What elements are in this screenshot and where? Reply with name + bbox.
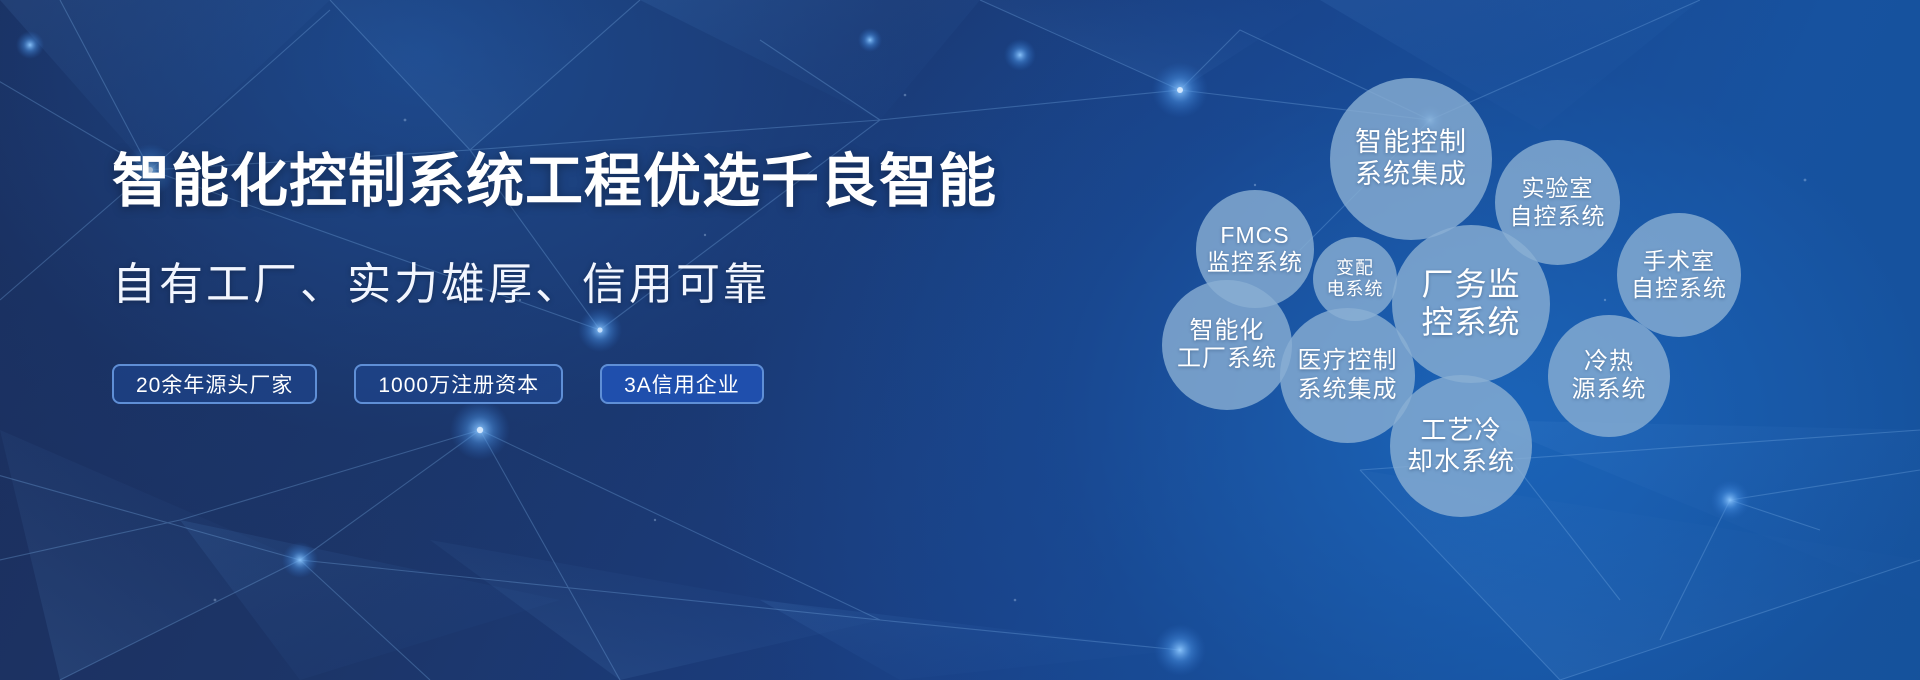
service-bubble-1[interactable]: 智能控制 系统集成	[1330, 78, 1492, 240]
service-bubble-10[interactable]: 工艺冷 却水系统	[1390, 375, 1532, 517]
badge-1[interactable]: 20余年源头厂家	[112, 364, 317, 404]
service-bubble-7[interactable]: 智能化 工厂系统	[1162, 280, 1292, 410]
badge-3[interactable]: 3A信用企业	[600, 364, 764, 404]
badge-2[interactable]: 1000万注册资本	[354, 364, 563, 404]
service-bubble-cluster: 智能控制 系统集成实验室 自控系统手术室 自控系统FMCS 监控系统变配 电系统…	[1140, 30, 1920, 680]
service-bubble-3[interactable]: 手术室 自控系统	[1617, 213, 1741, 337]
service-bubble-6[interactable]: 厂务监 控系统	[1392, 225, 1550, 383]
service-bubble-9[interactable]: 冷热 源系统	[1548, 315, 1670, 437]
hero-banner: 智能化控制系统工程优选千良智能 自有工厂、实力雄厚、信用可靠 20余年源头厂家1…	[0, 0, 1920, 680]
page-title: 智能化控制系统工程优选千良智能	[112, 150, 1112, 215]
hero-subtitle: 自有工厂、实力雄厚、信用可靠	[112, 215, 1112, 312]
badge-row: 20余年源头厂家1000万注册资本3A信用企业	[112, 312, 1112, 404]
hero-text-block: 智能化控制系统工程优选千良智能 自有工厂、实力雄厚、信用可靠 20余年源头厂家1…	[112, 150, 1112, 404]
